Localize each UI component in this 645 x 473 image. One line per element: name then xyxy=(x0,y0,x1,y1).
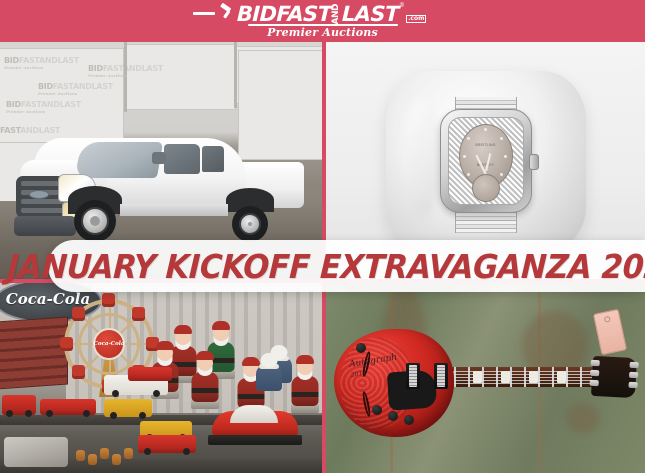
logo-word-bidfast: BIDFAST xyxy=(236,4,331,25)
wheel-rim xyxy=(239,213,261,235)
ford-badge-icon xyxy=(29,190,49,199)
diecast-sports-car xyxy=(40,399,96,415)
door-window xyxy=(164,144,200,174)
polar-bear-figurine xyxy=(254,353,284,393)
tagline-rule xyxy=(248,24,398,26)
pillow-fold xyxy=(402,97,442,217)
rear-window xyxy=(202,146,224,172)
rear-wheel xyxy=(232,206,268,242)
backdrop-watermark: BIDFASTANDLASTPremier Auctions xyxy=(4,56,79,70)
wheel-rim xyxy=(81,207,109,235)
logo-word-last: LAST xyxy=(342,4,399,25)
diecast-fire-truck xyxy=(2,395,36,415)
logo-dotcom: .com xyxy=(406,15,426,23)
headline-text: JANUARY KICKOFF EXTRAVAGANZA 2026 xyxy=(7,250,645,283)
front-wheel xyxy=(74,200,116,242)
guitar-switch-knob xyxy=(356,343,366,353)
tile-coca-cola-collectibles[interactable]: Coca-Cola xyxy=(0,283,322,473)
electric-guitar: Autograph 2014 xyxy=(334,313,634,445)
guitar-photo: Autograph 2014 xyxy=(326,283,645,473)
brand-logo[interactable]: BIDFAST AND LAST ® .com Premier Auctions xyxy=(193,3,453,41)
tile-electric-guitar[interactable]: Autograph 2014 xyxy=(326,283,645,473)
banner-post xyxy=(234,42,237,108)
logo-wordmark: BIDFAST AND LAST ® .com xyxy=(193,3,453,25)
parts-bag-pile xyxy=(4,437,68,467)
diecast-race-car xyxy=(138,435,196,453)
auction-promo-card: BIDFAST AND LAST ® .com Premier Auctions xyxy=(0,0,645,473)
diecast-truck xyxy=(128,367,172,381)
collectibles-photo: Coca-Cola xyxy=(0,283,322,473)
wooden-crate xyxy=(0,316,68,389)
watch-crown xyxy=(529,154,539,170)
watch-subdial xyxy=(472,174,500,202)
guitar-tone-knob xyxy=(388,411,398,421)
side-mirror xyxy=(152,152,166,164)
registered-mark-icon: ® xyxy=(400,3,404,9)
diecast-tow-truck xyxy=(104,399,152,417)
pickup-truck xyxy=(16,124,298,244)
diecast-vw-beetle xyxy=(212,405,298,445)
front-bumper xyxy=(14,216,76,236)
guitar-pickup-neck xyxy=(406,363,420,389)
ferris-hub-text: Coca-Cola xyxy=(94,341,125,347)
backdrop-watermark: BIDFASTANDLASTPremier Auctions xyxy=(38,82,113,96)
gavel-icon xyxy=(219,3,236,25)
beetle-roof xyxy=(230,405,278,423)
watch-case: BREITLING BENTLEY xyxy=(440,109,532,213)
logo-tagline-text: Premier Auctions xyxy=(267,26,378,39)
guitar-tone-knob xyxy=(404,415,414,425)
backdrop-watermark: BIDFASTANDLASTPremier Auctions xyxy=(6,100,81,114)
guitar-volume-knob xyxy=(372,405,382,415)
headline-banner: JANUARY KICKOFF EXTRAVAGANZA 2026 xyxy=(48,240,645,292)
windshield xyxy=(75,142,163,178)
rocker-panel xyxy=(120,204,228,216)
logo-tagline: Premier Auctions xyxy=(193,26,453,39)
dial-brand-text: BREITLING xyxy=(475,143,495,147)
backdrop-watermark: BIDFASTANDLASTPremier Auctions xyxy=(88,64,163,78)
santa-figurine xyxy=(190,355,220,409)
guitar-pickup-bridge xyxy=(434,363,448,389)
display-pillow: BREITLING BENTLEY xyxy=(386,71,586,251)
ferris-wheel-hub: Coca-Cola xyxy=(93,328,125,360)
header-bar: BIDFAST AND LAST ® .com Premier Auctions xyxy=(0,0,645,42)
display-stand xyxy=(208,435,302,445)
logo-rule-left xyxy=(193,12,215,15)
guitar-headstock xyxy=(591,356,637,398)
logo-word-and: AND xyxy=(332,4,341,24)
hour-hand xyxy=(485,153,491,171)
